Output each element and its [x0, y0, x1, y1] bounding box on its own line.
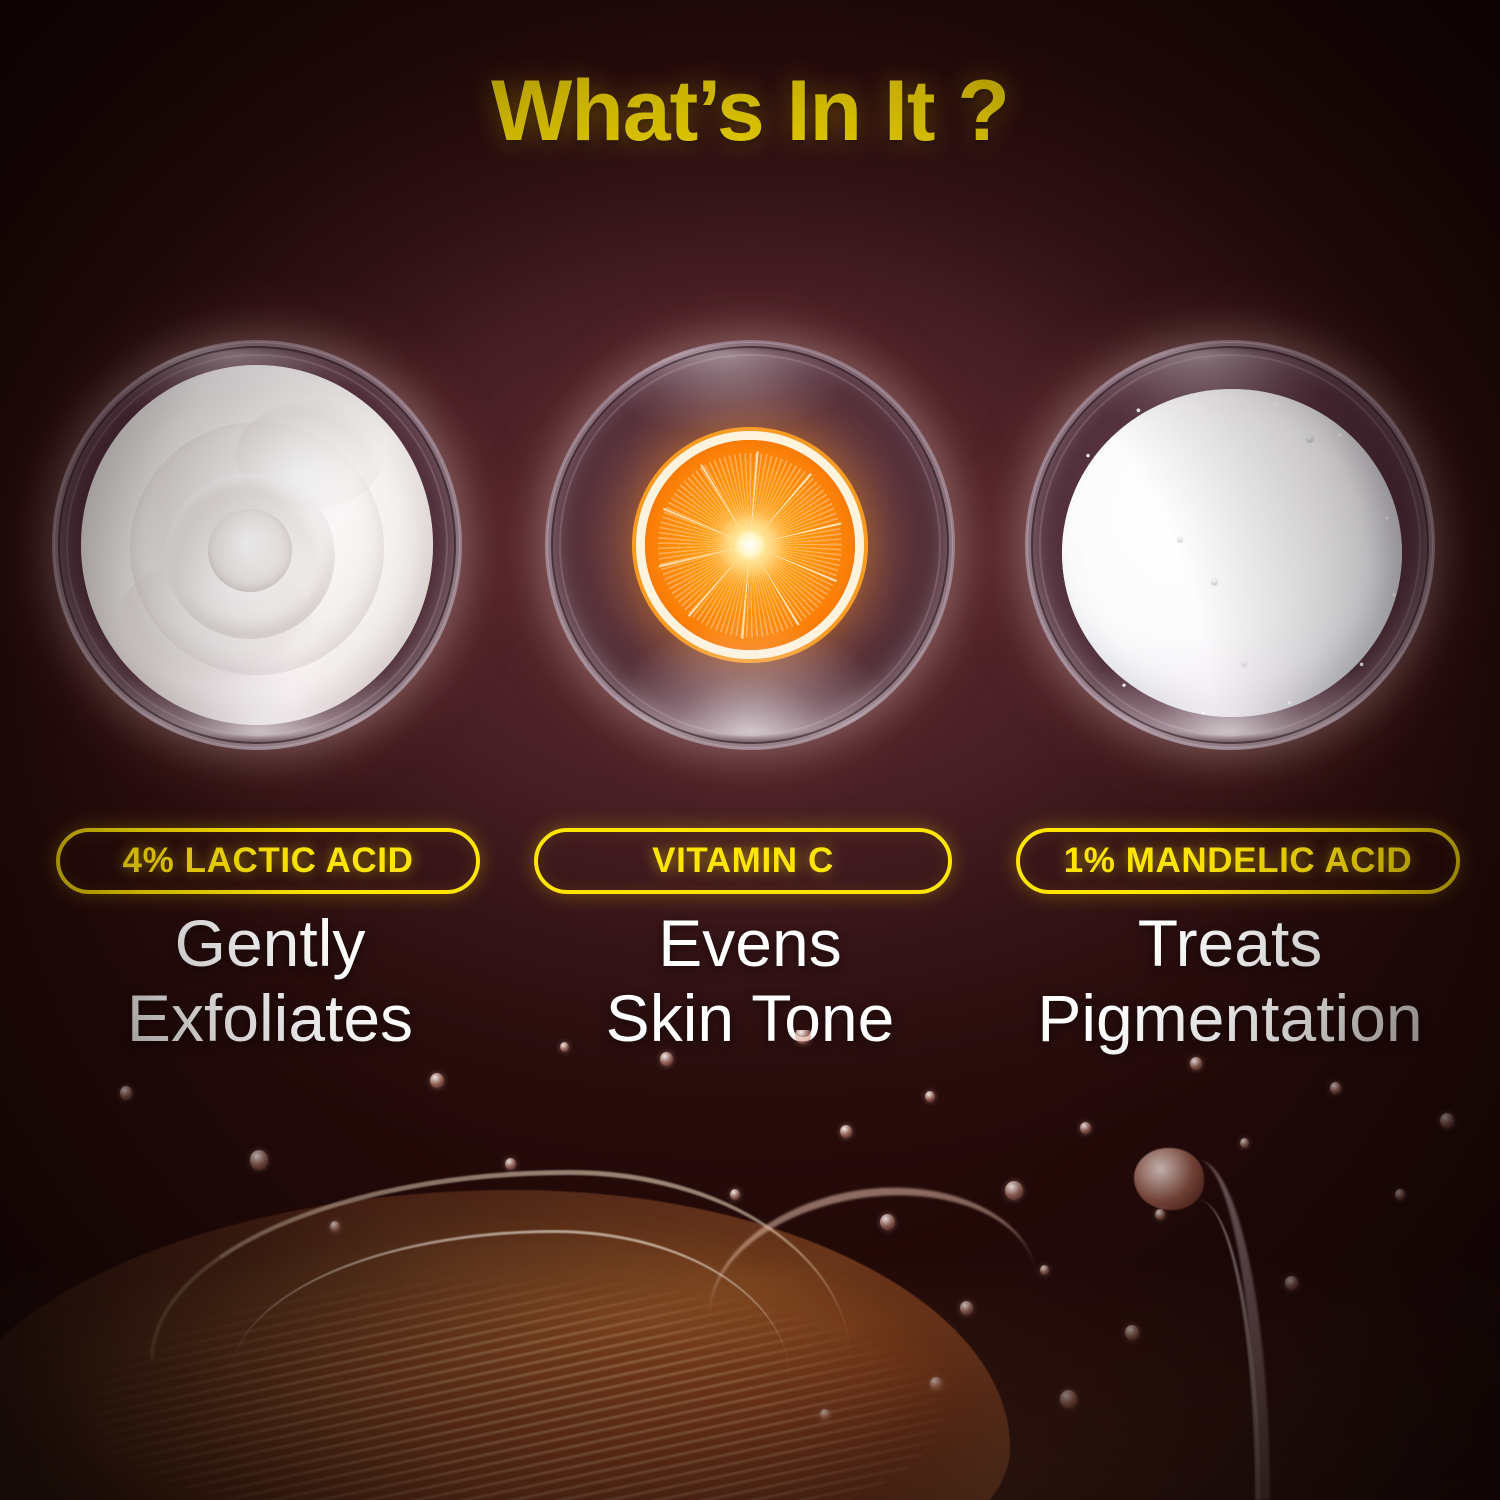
badge-lactic-acid: 4% LACTIC ACID	[56, 828, 480, 894]
bowl-inner-rim-icon	[1039, 354, 1421, 736]
water-splash-graphic	[0, 1030, 1500, 1500]
ingredient-bowl-vitamin-c	[545, 340, 955, 750]
ingredient-bowls-row	[0, 340, 1500, 760]
badge-vitamin-c: VITAMIN C	[534, 828, 952, 894]
whats-in-it-infographic: What’s In It ?	[0, 0, 1500, 1500]
ingredient-badges-row: 4% LACTIC ACID VITAMIN C 1% MANDELIC ACI…	[0, 828, 1500, 898]
water-jet-head-droplet-icon	[1134, 1148, 1204, 1210]
badge-mandelic-acid: 1% MANDELIC ACID	[1016, 828, 1460, 894]
benefit-line-1: Evens	[515, 906, 985, 981]
bowl-inner-rim-icon	[66, 354, 448, 736]
benefit-line-1: Gently	[35, 906, 505, 981]
bowl-inner-rim-icon	[559, 354, 941, 736]
ingredient-bowl-mandelic-acid	[1025, 340, 1435, 750]
benefit-line-1: Treats	[995, 906, 1465, 981]
page-title: What’s In It ?	[0, 62, 1500, 161]
ingredient-bowl-lactic-acid	[52, 340, 462, 750]
